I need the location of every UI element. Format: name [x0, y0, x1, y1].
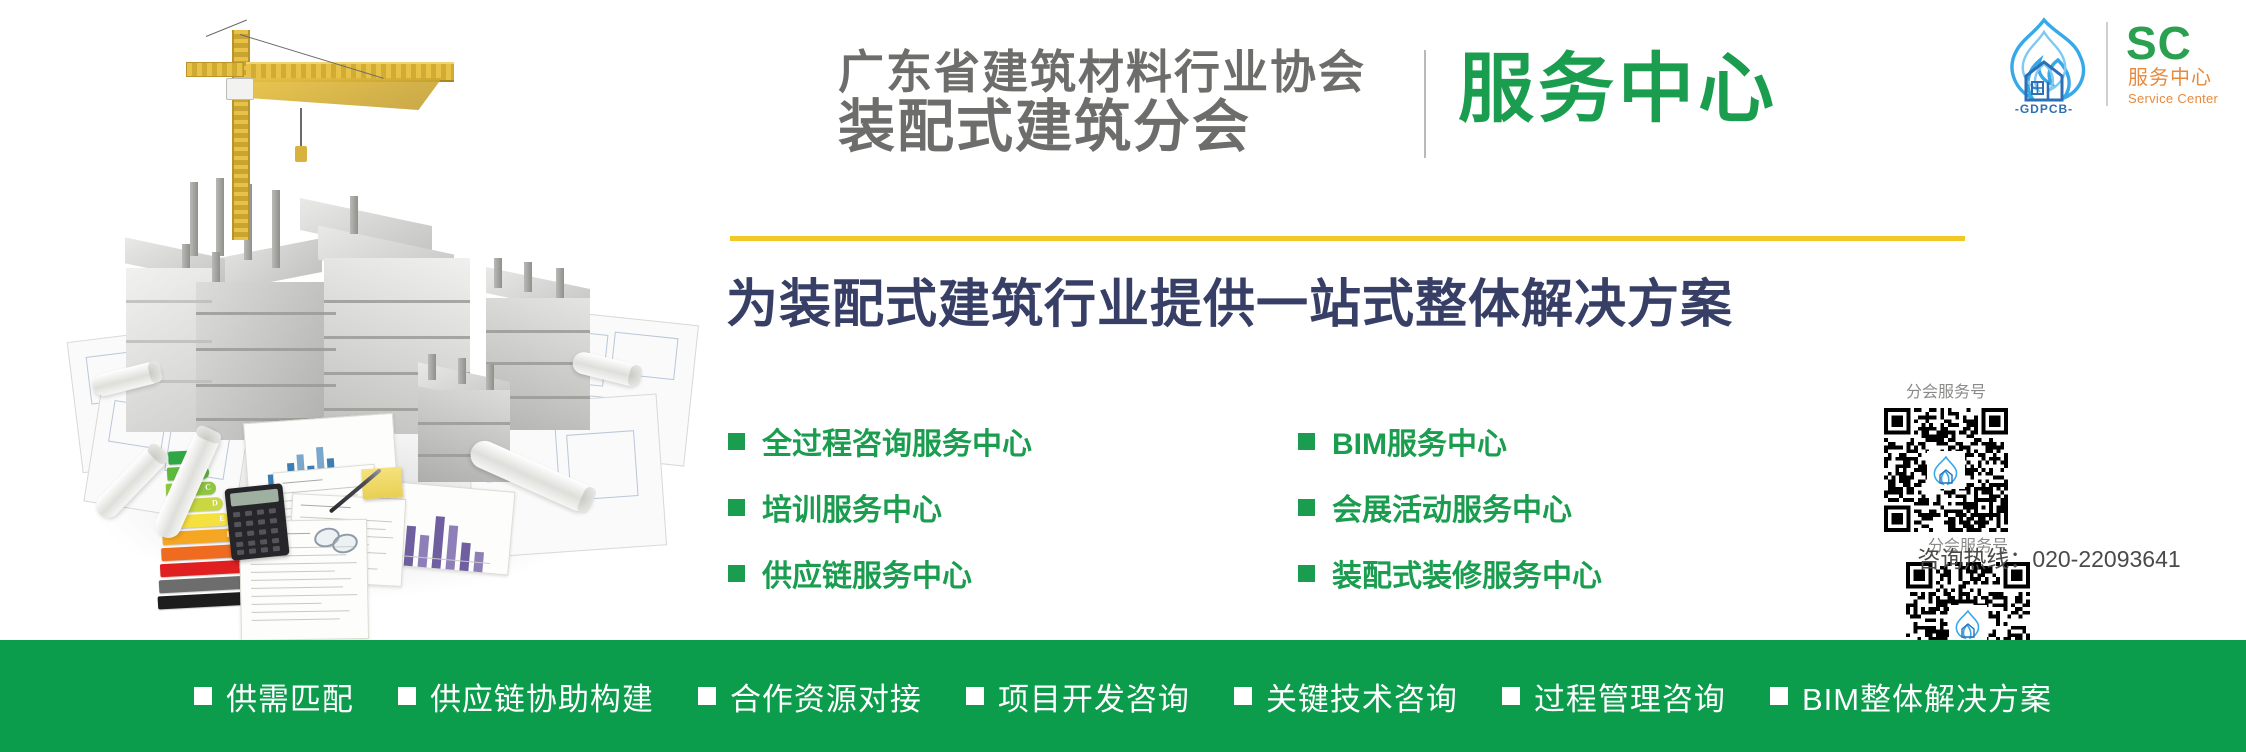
bottom-bar-item[interactable]: 项目开发咨询: [966, 674, 1190, 719]
qr-code-image[interactable]: [1884, 408, 2008, 532]
service-item[interactable]: 会展活动服务中心: [1298, 474, 1602, 540]
bottom-keyword-bar: 供需匹配 供应链协助构建 合作资源对接 项目开发咨询 关键技术咨询 过程管理咨询…: [0, 640, 2246, 752]
crane-cab: [226, 78, 254, 100]
gdpcb-house-flame-icon: [1929, 453, 1963, 487]
service-list-right: BIM服务中心 会展活动服务中心 装配式装修服务中心: [1298, 408, 1602, 606]
bottom-bar-label: 过程管理咨询: [1534, 674, 1726, 719]
service-label: BIM服务中心: [1332, 419, 1507, 463]
logo-cn-text: 服务中心: [2128, 68, 2212, 88]
qr-caption: 分会服务号: [1856, 378, 2036, 402]
bottom-bar-label: BIM整体解决方案: [1802, 674, 2052, 719]
bullet-square-icon: [1298, 499, 1315, 516]
bottom-bar-label: 项目开发咨询: [998, 674, 1190, 719]
crane-counter-jib: [186, 62, 244, 77]
floor-edge: [324, 300, 470, 303]
rebar-column: [350, 196, 358, 234]
association-name-block: 广东省建筑材料行业协会 装配式建筑分会: [838, 48, 1438, 157]
service-label: 培训服务中心: [762, 485, 942, 529]
floor-edge: [126, 340, 212, 343]
brand-logo[interactable]: -GDPCB- SC 服务中心 Service Center: [1990, 14, 2240, 114]
rebar-column: [190, 182, 198, 256]
rebar-column: [486, 364, 494, 390]
gdpcb-house-flame-icon: [1990, 14, 2098, 112]
bottom-bar-label: 关键技术咨询: [1266, 674, 1458, 719]
rebar-column: [458, 358, 466, 384]
logo-sc-text: SC: [2126, 20, 2192, 66]
service-label: 装配式装修服务中心: [1332, 551, 1602, 595]
service-center-heading: 服务中心: [1458, 52, 1778, 128]
bottom-bar-label: 供应链协助构建: [430, 674, 654, 719]
floor-edge: [196, 312, 336, 315]
rebar-column: [428, 354, 436, 380]
bullet-square-icon: [1502, 687, 1520, 705]
logo-en-text: Service Center: [2128, 92, 2218, 105]
rebar-column: [524, 262, 532, 292]
crane-hook: [300, 108, 302, 148]
bottom-bar-item[interactable]: 供应链协助构建: [398, 674, 654, 719]
bottom-bar-item[interactable]: 关键技术咨询: [1234, 674, 1458, 719]
bullet-square-icon: [1298, 565, 1315, 582]
building-wall: [196, 282, 336, 440]
bullet-square-icon: [1234, 687, 1252, 705]
rebar-column: [216, 178, 224, 256]
logo-mark-caption: -GDPCB-: [1996, 102, 2092, 116]
rebar-column: [556, 268, 564, 298]
calculator: [224, 483, 289, 561]
service-item[interactable]: 装配式装修服务中心: [1298, 540, 1602, 606]
service-label: 供应链服务中心: [762, 551, 972, 595]
floor-edge: [196, 348, 336, 351]
service-list-left: 全过程咨询服务中心 培训服务中心 供应链服务中心: [728, 408, 1032, 606]
qr-code-item[interactable]: 分会服务号: [1856, 378, 2036, 532]
bullet-square-icon: [194, 687, 212, 705]
qr-center-logo: [1927, 451, 1965, 489]
floor-edge: [324, 336, 470, 339]
service-item[interactable]: BIM服务中心: [1298, 408, 1602, 474]
bullet-square-icon: [398, 687, 416, 705]
bullet-square-icon: [728, 433, 745, 450]
bottom-bar-item[interactable]: 合作资源对接: [698, 674, 922, 719]
association-name-line1: 广东省建筑材料行业协会: [838, 48, 1438, 97]
bullet-square-icon: [1298, 433, 1315, 450]
bottom-bar-item[interactable]: 过程管理咨询: [1502, 674, 1726, 719]
crane-jib-truss: [246, 78, 442, 110]
qr-center-logo: [1949, 605, 1987, 643]
vertical-divider: [1424, 50, 1426, 158]
construction-illustration: A B C D E F G H I J: [0, 0, 700, 640]
floor-edge: [418, 422, 510, 425]
bottom-bar-item[interactable]: 供需匹配: [194, 674, 354, 719]
bullet-square-icon: [966, 687, 984, 705]
service-label: 全过程咨询服务中心: [762, 419, 1032, 463]
floor-edge: [196, 384, 336, 387]
rebar-column: [494, 258, 502, 288]
bottom-bar-label: 供需匹配: [226, 674, 354, 719]
service-item[interactable]: 供应链服务中心: [728, 540, 1032, 606]
bullet-square-icon: [728, 565, 745, 582]
service-item[interactable]: 全过程咨询服务中心: [728, 408, 1032, 474]
service-item[interactable]: 培训服务中心: [728, 474, 1032, 540]
floor-edge: [486, 330, 590, 333]
service-label: 会展活动服务中心: [1332, 485, 1572, 529]
rebar-column: [272, 190, 280, 268]
logo-separator: [2106, 22, 2108, 106]
yellow-divider: [730, 236, 1965, 241]
bullet-square-icon: [728, 499, 745, 516]
bullet-square-icon: [1770, 687, 1788, 705]
gdpcb-house-flame-icon: [1951, 607, 1985, 641]
bullet-square-icon: [698, 687, 716, 705]
bottom-bar-label: 合作资源对接: [730, 674, 922, 719]
bottom-bar-item[interactable]: BIM整体解决方案: [1770, 674, 2052, 719]
page-tagline: 为装配式建筑行业提供一站式整体解决方案: [726, 262, 1733, 337]
hotline-text: 咨询热线：020-22093641: [1856, 540, 2242, 574]
banner-root: A B C D E F G H I J: [0, 0, 2246, 752]
association-name-line2: 装配式建筑分会: [838, 97, 1438, 157]
floor-edge: [126, 300, 212, 303]
